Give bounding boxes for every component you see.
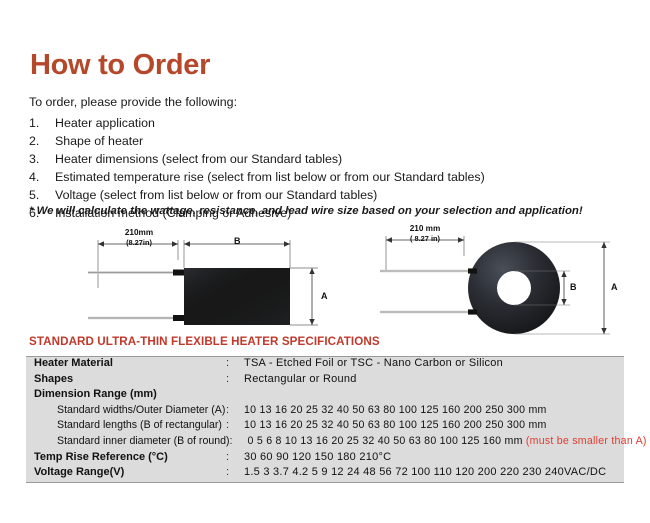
list-item: 2. Shape of heater <box>29 132 629 150</box>
table-row-colon: : <box>226 373 244 385</box>
rectangular-heater-diagram: 210mm (8.27in) B A <box>66 228 336 343</box>
table-row-label: Shapes <box>26 373 226 385</box>
list-item-number: 5. <box>29 186 55 204</box>
table-row-value: TSA - Etched Foil or TSC - Nano Carbon o… <box>244 357 624 369</box>
table-row-value: 10 13 16 20 25 32 40 50 63 80 100 125 16… <box>244 419 624 431</box>
page-title: How to Order <box>30 51 210 80</box>
table-row: Voltage Range(V) : 1.5 3 3.7 4.2 5 9 12 … <box>26 466 624 482</box>
table-row-colon: : <box>226 466 244 478</box>
spec-section-heading: STANDARD ULTRA-THIN FLEXIBLE HEATER SPEC… <box>29 335 380 348</box>
list-item-label: Estimated temperature rise (select from … <box>55 168 629 186</box>
table-row-value: 30 60 90 120 150 180 210°C <box>244 451 624 463</box>
table-row: Dimension Range (mm) <box>26 388 624 404</box>
list-item: 4. Estimated temperature rise (select fr… <box>29 168 629 186</box>
table-row-colon: : <box>230 435 248 447</box>
table-row-value: 0 5 6 8 10 13 16 20 25 32 40 50 63 80 10… <box>248 435 647 447</box>
rect-height-letter-a: A <box>321 291 328 301</box>
table-row-colon: : <box>226 357 244 369</box>
list-item-label: Heater dimensions (select from our Stand… <box>55 150 629 168</box>
rect-width-letter-b: B <box>234 236 241 246</box>
inner-diameter-note: (must be smaller than A) <box>526 435 647 447</box>
list-item-label: Voltage (select from list below or from … <box>55 186 629 204</box>
table-row: Temp Rise Reference (°C) : 30 60 90 120 … <box>26 451 624 467</box>
table-row-label: Standard inner diameter (B of round) <box>26 435 230 447</box>
table-row-value: 1.5 3 3.7 4.2 5 9 12 24 48 56 72 100 110… <box>244 466 624 478</box>
intro-text: To order, please provide the following: <box>29 96 237 109</box>
table-row-label: Standard widths/Outer Diameter (A) <box>26 404 226 416</box>
table-row-colon: : <box>226 451 244 463</box>
table-row-value-text: 0 5 6 8 10 13 16 20 25 32 40 50 63 80 10… <box>248 435 526 447</box>
table-row: Shapes : Rectangular or Round <box>26 373 624 389</box>
table-row-label: Dimension Range (mm) <box>26 388 226 400</box>
list-item: 1. Heater application <box>29 114 629 132</box>
list-item: 3. Heater dimensions (select from our St… <box>29 150 629 168</box>
table-row-value: Rectangular or Round <box>244 373 624 385</box>
list-item-number: 3. <box>29 150 55 168</box>
list-item-number: 2. <box>29 132 55 150</box>
footnote-text: * We will calculate the wattage, resista… <box>29 205 583 217</box>
heater-diagrams: 210mm (8.27in) B A <box>0 228 650 343</box>
table-row-value: 10 13 16 20 25 32 40 50 63 80 100 125 16… <box>244 404 624 416</box>
table-row-label: Heater Material <box>26 357 226 369</box>
list-item-number: 1. <box>29 114 55 132</box>
how-to-order-page: How to Order To order, please provide th… <box>0 0 650 523</box>
round-heater-diagram: 210 mm ( 8.27 in) B A <box>374 228 636 343</box>
table-row-colon: : <box>226 404 244 416</box>
table-row: Standard lengths (B of rectangular) : 10… <box>26 419 624 435</box>
round-lead-length-label: 210 mm ( 8.27 in) <box>392 224 458 243</box>
list-item: 5. Voltage (select from list below or fr… <box>29 186 629 204</box>
table-row-colon: : <box>226 419 244 431</box>
round-outer-letter-a: A <box>611 282 618 292</box>
list-item-label: Heater application <box>55 114 629 132</box>
table-row: Heater Material : TSA - Etched Foil or T… <box>26 357 624 373</box>
round-inner-letter-b: B <box>570 282 577 292</box>
spec-table: Heater Material : TSA - Etched Foil or T… <box>26 356 624 483</box>
table-row-label: Temp Rise Reference (°C) <box>26 451 226 463</box>
table-row-label: Voltage Range(V) <box>26 466 226 478</box>
table-row-label: Standard lengths (B of rectangular) <box>26 419 226 431</box>
list-item-label: Shape of heater <box>55 132 629 150</box>
list-item-number: 4. <box>29 168 55 186</box>
table-row: Standard inner diameter (B of round) : 0… <box>26 435 624 451</box>
rect-lead-length-label: 210mm (8.27in) <box>104 228 174 247</box>
table-row: Standard widths/Outer Diameter (A) : 10 … <box>26 404 624 420</box>
round-heater-drawing <box>374 228 636 343</box>
